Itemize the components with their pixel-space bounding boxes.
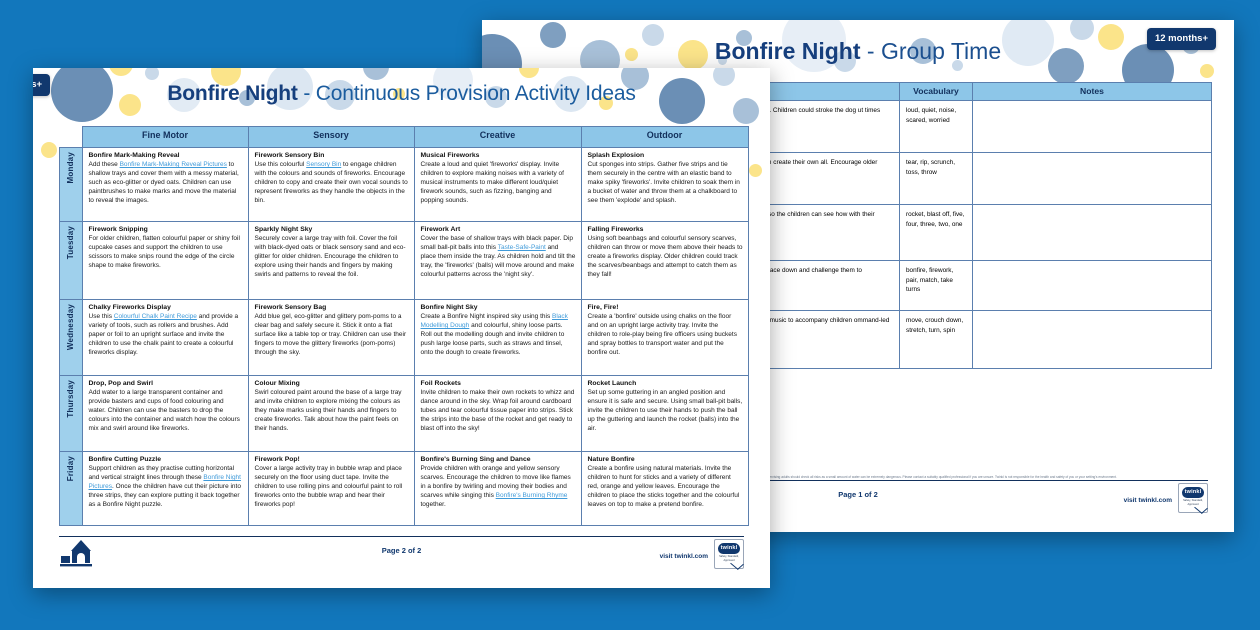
- activity-heading: Drop, Pop and Swirl: [89, 380, 243, 388]
- day-label-text: Thursday: [66, 376, 75, 422]
- page-number-label: Page 2 of 2: [59, 546, 744, 555]
- activity-heading: Nature Bonfire: [588, 456, 743, 464]
- notes-cell[interactable]: [973, 261, 1212, 311]
- table-row-monday: Monday Bonfire Mark-Making Reveal Add th…: [60, 148, 749, 222]
- activity-heading: Musical Fireworks: [421, 152, 576, 160]
- activity-text: Cover the base of shallow trays with bla…: [421, 235, 576, 280]
- activity-cell: Nature Bonfire Create a bonfire using na…: [581, 452, 748, 526]
- activity-text: Add blue gel, eco-glitter and glittery p…: [255, 313, 409, 358]
- activity-cell: Rocket Launch Set up some guttering in a…: [581, 376, 748, 452]
- vocabulary-cell: tear, rip, scrunch, toss, throw: [900, 153, 973, 205]
- title-rest: - Group Time: [861, 38, 1002, 64]
- activity-heading: Bonfire's Burning Sing and Dance: [421, 456, 576, 464]
- day-label-friday: Friday: [60, 452, 83, 526]
- title-rest: - Continuous Provision Activity Ideas: [298, 82, 636, 105]
- resource-link[interactable]: Bonfire Mark-Making Reveal Pictures: [120, 161, 227, 168]
- activity-text: Securely cover a large tray with foil. C…: [255, 235, 409, 280]
- column-header-sensory: Sensory: [248, 127, 414, 148]
- activity-heading: Firework Sensory Bin: [255, 152, 409, 160]
- text-before: Create a 'bonfire' outside using chalks …: [588, 313, 737, 356]
- activity-cell: Sparkly Night Sky Securely cover a large…: [248, 222, 414, 300]
- vocabulary-cell: rocket, blast off, five, four, three, tw…: [900, 205, 973, 261]
- activity-heading: Firework Snipping: [89, 226, 243, 234]
- column-header-fine-motor: Fine Motor: [82, 127, 248, 148]
- age-badge-group-time: 12 months+: [1147, 28, 1216, 50]
- activity-text: Create a bonfire using natural materials…: [588, 465, 743, 510]
- title-bold: Bonfire Night: [715, 38, 861, 64]
- day-label-monday: Monday: [60, 148, 83, 222]
- text-before: Cover a large activity tray in bubble wr…: [255, 465, 403, 508]
- decorative-circle: [519, 68, 539, 78]
- activity-heading: Foil Rockets: [421, 380, 576, 388]
- column-header-outdoor: Outdoor: [581, 127, 748, 148]
- decorative-circle: [41, 142, 57, 158]
- day-label-thursday: Thursday: [60, 376, 83, 452]
- activity-cell: Chalky Fireworks Display Use this Colour…: [82, 300, 248, 376]
- text-before: Add water to a large transparent contain…: [89, 389, 240, 432]
- resource-link[interactable]: Colourful Chalk Paint Recipe: [114, 313, 197, 320]
- resource-link[interactable]: Taste-Safe-Paint: [498, 244, 546, 251]
- twinkl-wordmark: twinkl: [718, 543, 740, 554]
- day-label-text: Wednesday: [66, 300, 75, 354]
- notes-cell[interactable]: [973, 101, 1212, 153]
- text-before: Swirl coloured paint around the base of …: [255, 389, 402, 432]
- activity-cell: Falling Fireworks Using soft beanbags an…: [581, 222, 748, 300]
- text-before: Create a Bonfire Night inspired sky usin…: [421, 313, 553, 320]
- notes-cell[interactable]: [973, 153, 1212, 205]
- activity-heading: Firework Art: [421, 226, 576, 234]
- text-before: For older children, flatten colourful pa…: [89, 235, 240, 269]
- text-before: Securely cover a large tray with foil. C…: [255, 235, 406, 278]
- activity-heading: Firework Sensory Bag: [255, 304, 409, 312]
- activity-text: Create a loud and quiet 'fireworks' disp…: [421, 161, 576, 206]
- activity-heading: Fire, Fire!: [588, 304, 743, 312]
- decorative-circle: [363, 68, 389, 80]
- table-header-row: Fine Motor Sensory Creative Outdoor: [60, 127, 749, 148]
- activity-text: Use this Colourful Chalk Paint Recipe an…: [89, 313, 243, 358]
- activity-text: Swirl coloured paint around the base of …: [255, 389, 409, 434]
- checkmark-icon: [1194, 502, 1208, 514]
- activity-heading: Rocket Launch: [588, 380, 743, 388]
- activity-cell: Firework Snipping For older children, fl…: [82, 222, 248, 300]
- activity-cell: Bonfire Night Sky Create a Bonfire Night…: [414, 300, 581, 376]
- page-footer-continuous-provision: Page 2 of 2 visit twinkl.com twinkl Safe…: [59, 536, 744, 576]
- notes-cell[interactable]: [973, 205, 1212, 261]
- activity-text: Support children as they practise cuttin…: [89, 465, 243, 510]
- activity-text: Add water to a large transparent contain…: [89, 389, 243, 434]
- text-before: Set up some guttering in an angled posit…: [588, 389, 743, 432]
- activity-text: Use this colourful Sensory Bin to engage…: [255, 161, 409, 206]
- notes-cell[interactable]: [973, 311, 1212, 369]
- activity-cell: Foil Rockets Invite children to make the…: [414, 376, 581, 452]
- decorative-circle: [109, 68, 133, 76]
- visit-twinkl-link[interactable]: visit twinkl.com: [660, 553, 708, 560]
- day-label-text: Tuesday: [66, 222, 75, 263]
- resource-link[interactable]: Sensory Bin: [306, 161, 341, 168]
- text-before: Cut sponges into strips. Gather five str…: [588, 161, 740, 204]
- text-after: . Once the children have cut their pictu…: [89, 483, 241, 508]
- twinkl-logo-badge: twinkl Safety, Standard, Approved: [714, 539, 744, 569]
- activity-cell: Firework Art Cover the base of shallow t…: [414, 222, 581, 300]
- activity-cell: Firework Sensory Bin Use this colourful …: [248, 148, 414, 222]
- activity-heading: Sparkly Night Sky: [255, 226, 409, 234]
- table-row-tuesday: Tuesday Firework Snipping For older chil…: [60, 222, 749, 300]
- activity-text: Create a 'bonfire' outside using chalks …: [588, 313, 743, 358]
- text-before: Invite children to make their own rocket…: [421, 389, 575, 432]
- twinkl-logo-badge: twinkl Safety, Standard, Approved: [1178, 483, 1208, 513]
- screenshot-canvas: Bonfire Night - Group Time 12 months+ Vo…: [0, 0, 1260, 630]
- decorative-circle: [1200, 64, 1214, 78]
- activity-text: Using soft beanbags and colourful sensor…: [588, 235, 743, 280]
- vocabulary-cell: loud, quiet, noise, scared, worried: [900, 101, 973, 153]
- decorative-circle: [749, 164, 762, 177]
- activity-cell: Drop, Pop and Swirl Add water to a large…: [82, 376, 248, 452]
- activity-heading: Bonfire Night Sky: [421, 304, 576, 312]
- activity-cell: Colour Mixing Swirl coloured paint aroun…: [248, 376, 414, 452]
- document-page-continuous-provision[interactable]: Bonfire Night - Continuous Provision Act…: [33, 68, 770, 588]
- activity-heading: Splash Explosion: [588, 152, 743, 160]
- continuous-provision-table-body: Monday Bonfire Mark-Making Reveal Add th…: [60, 148, 749, 526]
- activity-cell: Musical Fireworks Create a loud and quie…: [414, 148, 581, 222]
- text-before: Using soft beanbags and colourful sensor…: [588, 235, 743, 278]
- day-label-tuesday: Tuesday: [60, 222, 83, 300]
- activity-cell: Bonfire Mark-Making Reveal Add these Bon…: [82, 148, 248, 222]
- column-header-notes: Notes: [973, 83, 1212, 101]
- activity-cell: Bonfire Cutting Puzzle Support children …: [82, 452, 248, 526]
- activity-cell: Bonfire's Burning Sing and Dance Provide…: [414, 452, 581, 526]
- continuous-provision-table: Fine Motor Sensory Creative Outdoor Mond…: [59, 126, 749, 526]
- activity-text: Set up some guttering in an angled posit…: [588, 389, 743, 434]
- resource-link[interactable]: Bonfire's Burning Rhyme: [496, 492, 568, 499]
- day-label-text: Monday: [66, 148, 75, 187]
- activity-text: Provide children with orange and yellow …: [421, 465, 576, 510]
- activity-text: For older children, flatten colourful pa…: [89, 235, 243, 271]
- visit-twinkl-link[interactable]: visit twinkl.com: [1124, 497, 1172, 504]
- table-row-wednesday: Wednesday Chalky Fireworks Display Use t…: [60, 300, 749, 376]
- vocabulary-cell: bonfire, firework, pair, match, take tur…: [900, 261, 973, 311]
- activity-heading: Firework Pop!: [255, 456, 409, 464]
- activity-cell: Fire, Fire! Create a 'bonfire' outside u…: [581, 300, 748, 376]
- age-badge-continuous-provision: 12 months+: [33, 74, 50, 96]
- table-row-thursday: Thursday Drop, Pop and Swirl Add water t…: [60, 376, 749, 452]
- text-before: Create a bonfire using natural materials…: [588, 465, 740, 508]
- text-before: Use this: [89, 313, 114, 320]
- day-label-wednesday: Wednesday: [60, 300, 83, 376]
- activity-cell: Firework Pop! Cover a large activity tra…: [248, 452, 414, 526]
- activity-heading: Falling Fireworks: [588, 226, 743, 234]
- text-after: together.: [421, 501, 446, 508]
- activity-text: Cover a large activity tray in bubble wr…: [255, 465, 409, 510]
- vocabulary-cell: move, crouch down, stretch, turn, spin: [900, 311, 973, 369]
- column-header-creative: Creative: [414, 127, 581, 148]
- twinkl-wordmark: twinkl: [1182, 487, 1204, 498]
- text-before: Create a loud and quiet 'fireworks' disp…: [421, 161, 564, 204]
- activity-heading: Chalky Fireworks Display: [89, 304, 243, 312]
- column-header-vocabulary: Vocabulary: [900, 83, 973, 101]
- activity-text: Add these Bonfire Mark-Making Reveal Pic…: [89, 161, 243, 206]
- activity-text: Invite children to make their own rocket…: [421, 389, 576, 434]
- text-before: Use this colourful: [255, 161, 307, 168]
- text-before: Add these: [89, 161, 120, 168]
- activity-heading: Colour Mixing: [255, 380, 409, 388]
- continuous-provision-page-title: Bonfire Night - Continuous Provision Act…: [33, 82, 770, 106]
- day-label-text: Friday: [66, 452, 75, 485]
- activity-heading: Bonfire Cutting Puzzle: [89, 456, 243, 464]
- checkmark-icon: [730, 558, 744, 570]
- group-time-page-title: Bonfire Night - Group Time: [482, 38, 1234, 65]
- continuous-provision-hero: Bonfire Night - Continuous Provision Act…: [33, 68, 770, 126]
- title-bold: Bonfire Night: [167, 82, 297, 105]
- decorative-circle: [1070, 20, 1094, 40]
- corner-cell: [60, 127, 83, 148]
- text-before: Add blue gel, eco-glitter and glittery p…: [255, 313, 407, 356]
- activity-heading: Bonfire Mark-Making Reveal: [89, 152, 243, 160]
- activity-cell: Splash Explosion Cut sponges into strips…: [581, 148, 748, 222]
- activity-cell: Firework Sensory Bag Add blue gel, eco-g…: [248, 300, 414, 376]
- activity-text: Create a Bonfire Night inspired sky usin…: [421, 313, 576, 358]
- activity-text: Cut sponges into strips. Gather five str…: [588, 161, 743, 206]
- table-row-friday: Friday Bonfire Cutting Puzzle Support ch…: [60, 452, 749, 526]
- decorative-circle: [145, 68, 159, 80]
